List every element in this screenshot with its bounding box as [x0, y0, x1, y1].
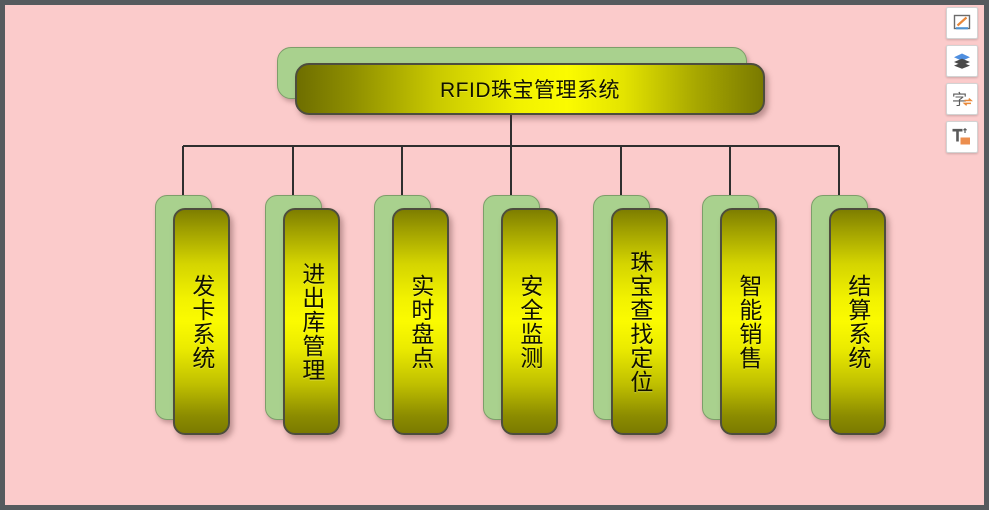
- node-child-3[interactable]: 实时盘点: [374, 195, 456, 435]
- image-edit-button[interactable]: [946, 7, 978, 39]
- text-box-button[interactable]: [946, 121, 978, 153]
- node-child-4-card[interactable]: 安全监测: [501, 208, 558, 435]
- node-child-2-card[interactable]: 进出库管理: [283, 208, 340, 435]
- node-child-2[interactable]: 进出库管理: [265, 195, 347, 435]
- layers-button[interactable]: [946, 45, 978, 77]
- node-child-1-card[interactable]: 发卡系统: [173, 208, 230, 435]
- diagram-canvas[interactable]: RFID珠宝管理系统 发卡系统 进出库管理 实时盘点 安全监测: [5, 5, 984, 505]
- svg-text:字: 字: [952, 91, 967, 109]
- node-child-7-label: 结算系统: [845, 274, 870, 370]
- node-child-7-card[interactable]: 结算系统: [829, 208, 886, 435]
- node-root-label: RFID珠宝管理系统: [440, 74, 620, 104]
- node-child-5-card[interactable]: 珠宝查找定位: [611, 208, 668, 435]
- node-child-2-label: 进出库管理: [299, 262, 324, 382]
- font-swap-icon: 字: [951, 89, 973, 109]
- floating-toolbar: 字: [946, 7, 980, 153]
- node-child-7[interactable]: 结算系统: [811, 195, 893, 435]
- text-box-icon: [951, 127, 973, 147]
- node-child-6-label: 智能销售: [736, 274, 761, 370]
- node-root-card[interactable]: RFID珠宝管理系统: [295, 63, 765, 115]
- node-child-3-card[interactable]: 实时盘点: [392, 208, 449, 435]
- font-swap-button[interactable]: 字: [946, 83, 978, 115]
- node-child-1-label: 发卡系统: [189, 274, 214, 370]
- node-child-6[interactable]: 智能销售: [702, 195, 784, 435]
- node-child-5[interactable]: 珠宝查找定位: [593, 195, 675, 435]
- image-edit-icon: [952, 13, 972, 33]
- node-child-1[interactable]: 发卡系统: [155, 195, 237, 435]
- diagram-window: RFID珠宝管理系统 发卡系统 进出库管理 实时盘点 安全监测: [0, 0, 989, 510]
- layers-icon: [952, 51, 972, 71]
- node-child-3-label: 实时盘点: [408, 274, 433, 370]
- node-child-4[interactable]: 安全监测: [483, 195, 565, 435]
- node-child-4-label: 安全监测: [517, 274, 542, 370]
- node-child-6-card[interactable]: 智能销售: [720, 208, 777, 435]
- node-child-5-label: 珠宝查找定位: [627, 250, 652, 394]
- node-root[interactable]: RFID珠宝管理系统: [277, 47, 769, 119]
